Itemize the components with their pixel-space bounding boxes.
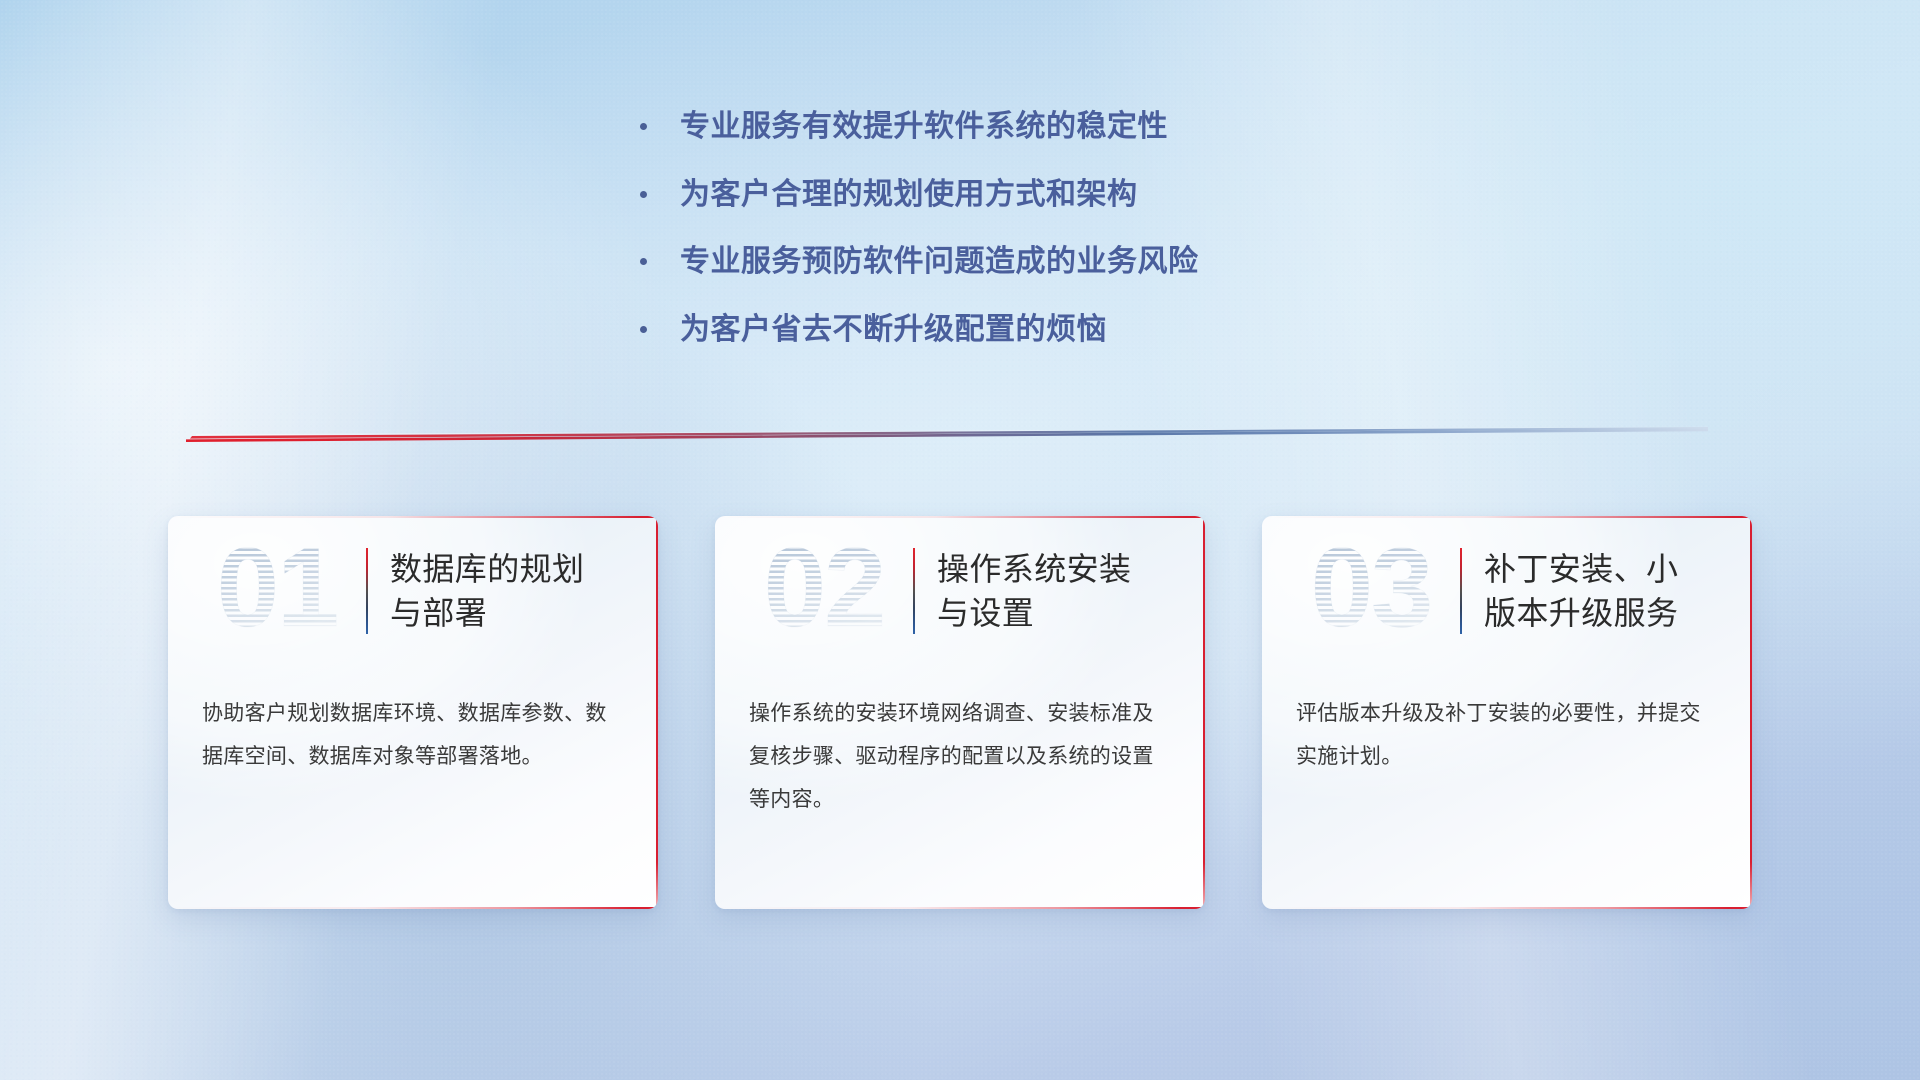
card-divider-line <box>366 548 368 634</box>
bullet-dot-icon <box>640 326 647 333</box>
bullet-label: 为客户合理的规划使用方式和架构 <box>680 176 1138 214</box>
wedge-divider-icon <box>186 424 1708 442</box>
card-number-graphic: 03 03 <box>1286 532 1456 650</box>
list-item: 为客户省去不断升级配置的烦恼 <box>640 311 1199 349</box>
bullet-dot-icon <box>640 191 647 198</box>
bullet-label: 专业服务预防软件问题造成的业务风险 <box>680 243 1199 281</box>
list-item: 专业服务有效提升软件系统的稳定性 <box>640 108 1199 146</box>
card-body-text: 评估版本升级及补丁安装的必要性，并提交实施计划。 <box>1262 666 1752 778</box>
card-number-graphic: 02 02 <box>739 532 909 650</box>
card-number-graphic: 01 01 <box>192 532 362 650</box>
card-title: 操作系统安装与设置 <box>937 547 1131 635</box>
bullet-dot-icon <box>640 123 647 130</box>
card-title: 补丁安装、小版本升级服务 <box>1484 547 1678 635</box>
bullet-label: 专业服务有效提升软件系统的稳定性 <box>680 108 1168 146</box>
striped-number-icon: 03 03 <box>1286 532 1456 650</box>
card-divider-line <box>913 548 915 634</box>
list-item: 专业服务预防软件问题造成的业务风险 <box>640 243 1199 281</box>
service-card-03[interactable]: 03 03 补丁安装、小版本升级服务 评估版本升级及补丁安装的必要性，并提交实施… <box>1262 516 1752 909</box>
bullet-list: 专业服务有效提升软件系统的稳定性 为客户合理的规划使用方式和架构 专业服务预防软… <box>640 108 1199 378</box>
card-title: 数据库的规划与部署 <box>390 547 584 635</box>
card-header: 02 02 操作系统安装与设置 <box>715 516 1205 666</box>
card-divider-line <box>1460 548 1462 634</box>
svg-text:01: 01 <box>217 532 338 650</box>
list-item: 为客户合理的规划使用方式和架构 <box>640 176 1199 214</box>
card-body-text: 协助客户规划数据库环境、数据库参数、数据库空间、数据库对象等部署落地。 <box>168 666 658 778</box>
card-body-text: 操作系统的安装环境网络调查、安装标准及复核步骤、驱动程序的配置以及系统的设置等内… <box>715 666 1205 821</box>
service-card-01[interactable]: 01 01 数据库的规划与部署 协助客户规划数据库环境、数据库参数、数据库空间、… <box>168 516 658 909</box>
card-row: 01 01 数据库的规划与部署 协助客户规划数据库环境、数据库参数、数据库空间、… <box>0 516 1920 916</box>
slide-root: 专业服务有效提升软件系统的稳定性 为客户合理的规划使用方式和架构 专业服务预防软… <box>0 0 1920 1080</box>
striped-number-icon: 02 02 <box>739 532 909 650</box>
svg-text:02: 02 <box>764 532 885 650</box>
striped-number-icon: 01 01 <box>192 532 362 650</box>
card-header: 03 03 补丁安装、小版本升级服务 <box>1262 516 1752 666</box>
service-card-02[interactable]: 02 02 操作系统安装与设置 操作系统的安装环境网络调查、安装标准及复核步骤、… <box>715 516 1205 909</box>
svg-text:03: 03 <box>1311 532 1432 650</box>
card-header: 01 01 数据库的规划与部署 <box>168 516 658 666</box>
bullet-dot-icon <box>640 258 647 265</box>
wedge-divider <box>186 424 1708 442</box>
bullet-label: 为客户省去不断升级配置的烦恼 <box>680 311 1107 349</box>
